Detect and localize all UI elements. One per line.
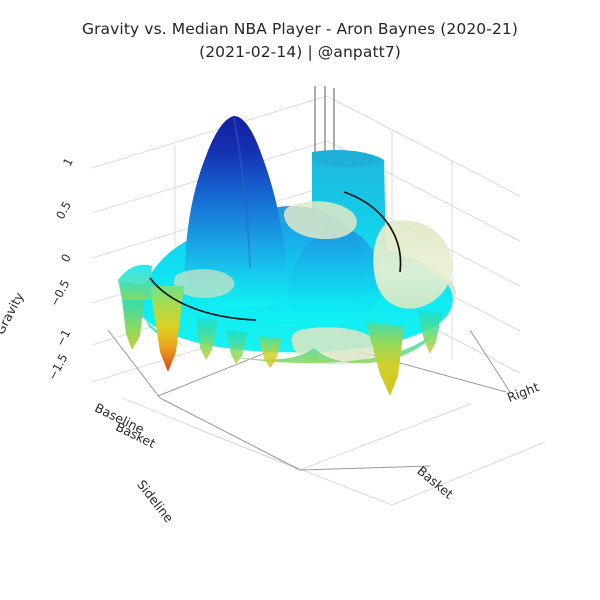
figure-canvas: Gravity vs. Median NBA Player - Aron Bay… — [0, 0, 600, 600]
plot-svg — [0, 0, 600, 600]
surface-plot-3d: 1 0.5 0 −0.5 −1 −1.5 Gravity Baseline Ba… — [0, 0, 600, 600]
